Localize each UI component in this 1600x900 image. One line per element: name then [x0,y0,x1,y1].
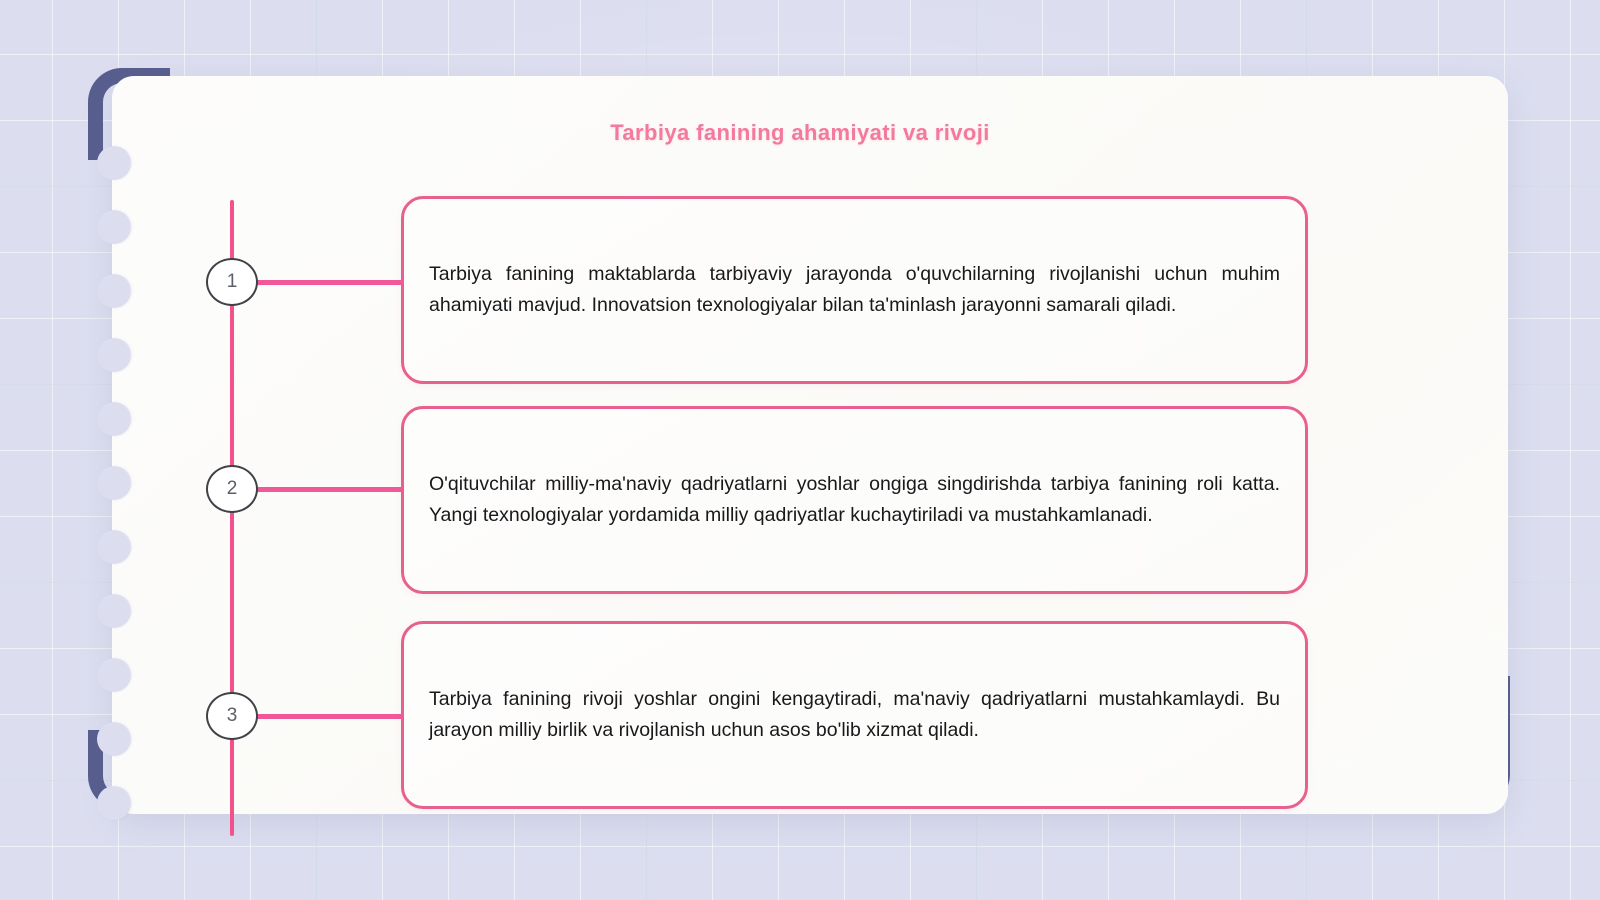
step-text-3: Tarbiya fanining rivoji yoshlar ongini k… [404,684,1305,745]
step-connector-3 [256,714,404,719]
step-content-box-1[interactable]: Tarbiya fanining maktablarda tarbiyaviy … [401,196,1308,384]
page-title: Tarbiya fanining ahamiyati va rivoji [0,120,1600,146]
card-torn-edge [111,146,141,826]
step-marker-3[interactable]: 3 [206,692,258,740]
step-connector-2 [256,487,404,492]
step-content-box-3[interactable]: Tarbiya fanining rivoji yoshlar ongini k… [401,621,1308,809]
step-marker-1[interactable]: 1 [206,258,258,306]
step-connector-1 [256,280,404,285]
infographic-canvas: Tarbiya fanining ahamiyati va rivoji 1 T… [0,0,1600,900]
step-content-box-2[interactable]: O'qituvchilar milliy-ma'naviy qadriyatla… [401,406,1308,594]
step-marker-2[interactable]: 2 [206,465,258,513]
step-text-1: Tarbiya fanining maktablarda tarbiyaviy … [404,259,1305,320]
step-text-2: O'qituvchilar milliy-ma'naviy qadriyatla… [404,469,1305,530]
